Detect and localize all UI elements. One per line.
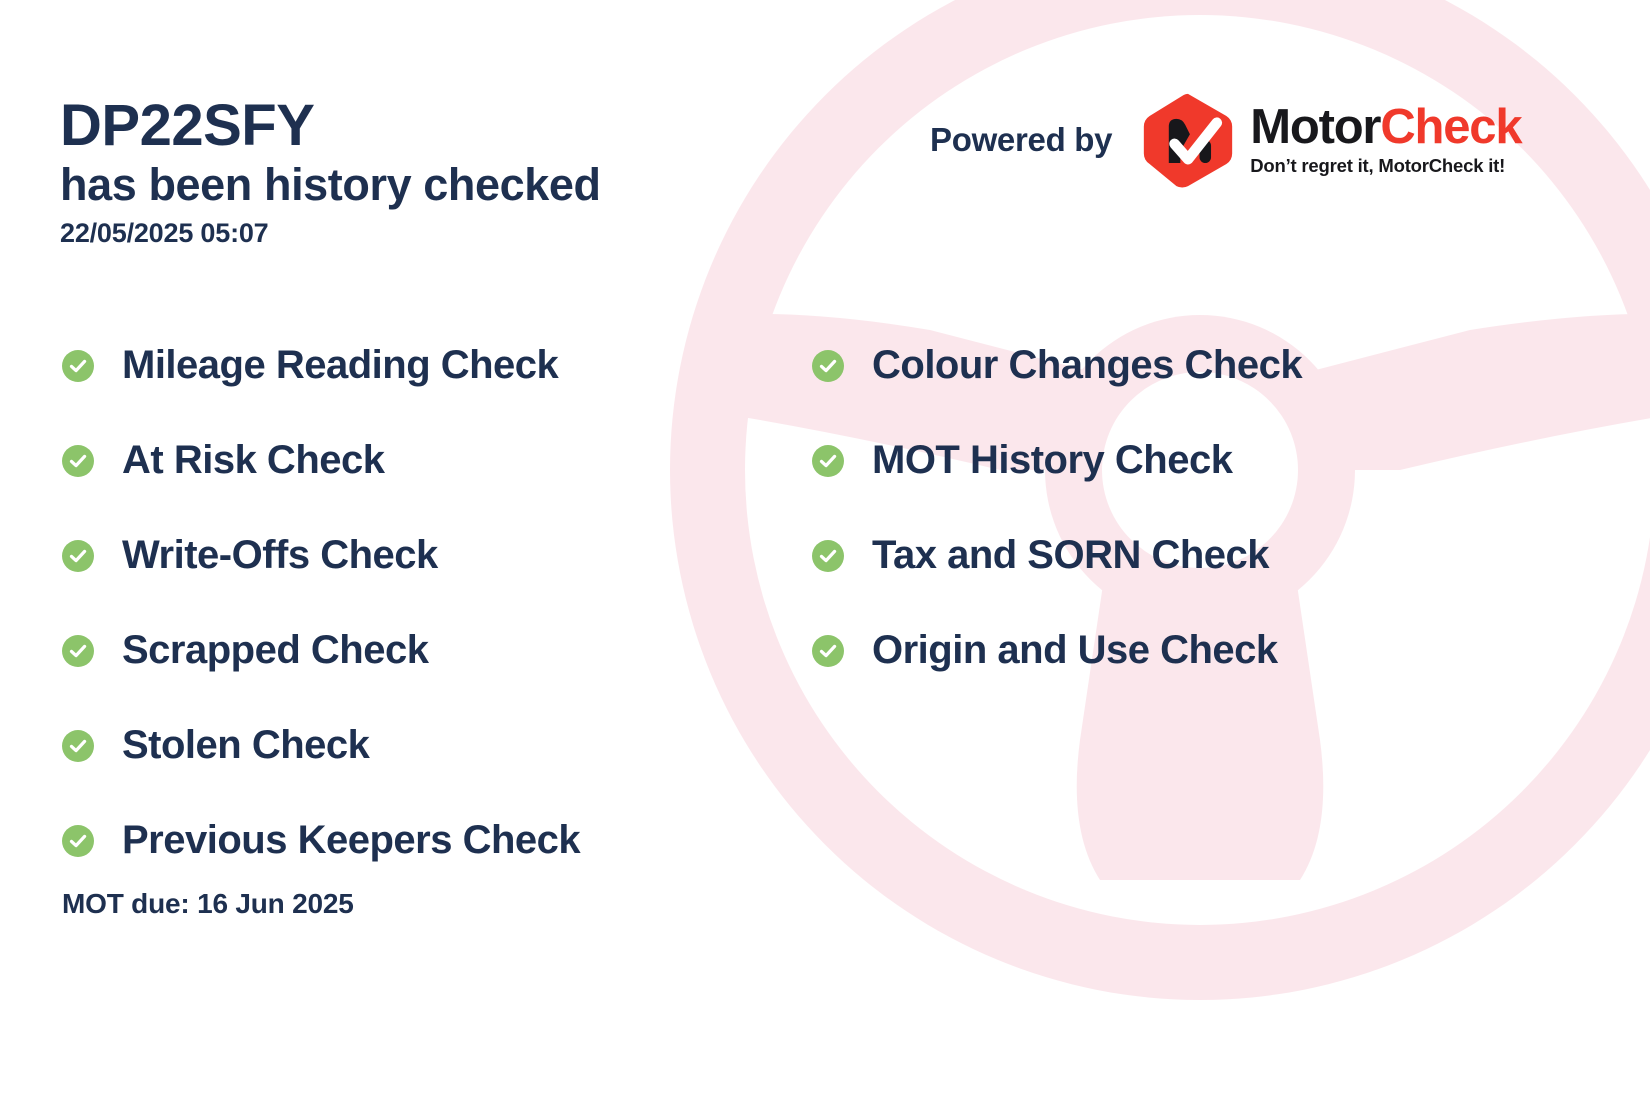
check-item: Scrapped Check (62, 603, 580, 698)
check-item-label: At Risk Check (122, 438, 384, 483)
powered-by-block: Powered by MotorCheck Don’t regret it, M… (930, 92, 1521, 188)
motorcheck-hexagon-logo-icon (1140, 92, 1236, 188)
mot-due-text: MOT due: 16 Jun 2025 (62, 888, 354, 920)
wordmark-check: Check (1380, 100, 1521, 154)
check-circle-icon (62, 350, 94, 382)
motorcheck-tagline: Don’t regret it, MotorCheck it! (1250, 155, 1521, 177)
check-item-label: Mileage Reading Check (122, 343, 558, 388)
check-item: Origin and Use Check (812, 603, 1302, 698)
check-circle-icon (62, 540, 94, 572)
check-item-label: Stolen Check (122, 723, 369, 768)
motorcheck-logo[interactable]: MotorCheck Don’t regret it, MotorCheck i… (1140, 92, 1521, 188)
wordmark-motor: Motor (1250, 100, 1380, 154)
check-circle-icon (812, 635, 844, 667)
check-timestamp: 22/05/2025 05:07 (60, 218, 601, 249)
check-circle-icon (62, 445, 94, 477)
check-item-label: Previous Keepers Check (122, 818, 580, 863)
check-item-label: Colour Changes Check (872, 343, 1302, 388)
check-item: Write-Offs Check (62, 508, 580, 603)
check-item: MOT History Check (812, 413, 1302, 508)
motorcheck-wordmark: MotorCheck (1250, 103, 1521, 152)
check-item-label: Origin and Use Check (872, 628, 1278, 673)
check-item: Colour Changes Check (812, 318, 1302, 413)
check-circle-icon (812, 350, 844, 382)
check-item: Stolen Check (62, 698, 580, 793)
check-item: Tax and SORN Check (812, 508, 1302, 603)
check-item: At Risk Check (62, 413, 580, 508)
check-circle-icon (812, 445, 844, 477)
check-item-label: Scrapped Check (122, 628, 428, 673)
page-subtitle: has been history checked (60, 160, 601, 210)
check-list-right-column: Colour Changes CheckMOT History CheckTax… (812, 318, 1302, 698)
check-item-label: Tax and SORN Check (872, 533, 1269, 578)
check-circle-icon (812, 540, 844, 572)
check-item: Mileage Reading Check (62, 318, 580, 413)
check-list-left-column: Mileage Reading CheckAt Risk CheckWrite-… (62, 318, 580, 888)
history-check-banner: DP22SFY has been history checked 22/05/2… (0, 0, 1650, 1100)
check-circle-icon (62, 730, 94, 762)
check-circle-icon (62, 635, 94, 667)
check-circle-icon (62, 825, 94, 857)
motorcheck-wordmark-block: MotorCheck Don’t regret it, MotorCheck i… (1250, 103, 1521, 177)
header-block: DP22SFY has been history checked 22/05/2… (60, 96, 601, 249)
powered-by-label: Powered by (930, 121, 1112, 159)
check-item: Previous Keepers Check (62, 793, 580, 888)
vehicle-registration-title: DP22SFY (60, 96, 601, 156)
check-item-label: MOT History Check (872, 438, 1232, 483)
check-item-label: Write-Offs Check (122, 533, 438, 578)
